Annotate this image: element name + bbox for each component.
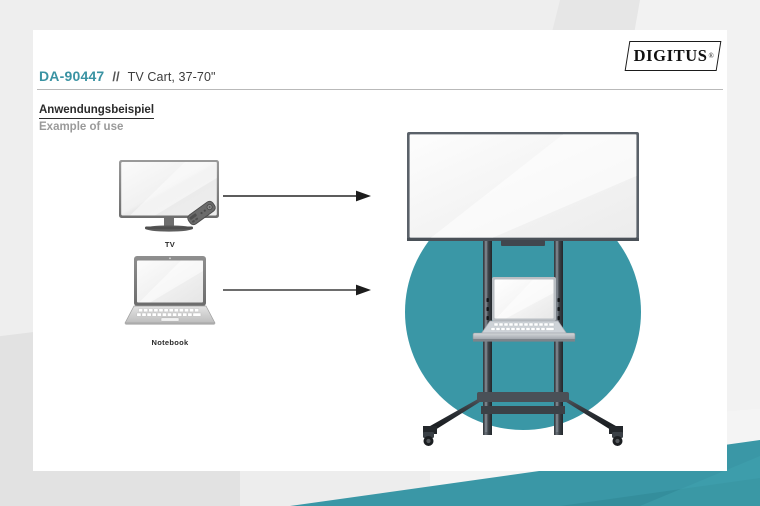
tv-cart-illustration [373,130,673,450]
source-item-tv: TV [115,158,225,250]
section-heading-en: Example of use [39,121,123,134]
remote-control-icon [185,200,221,230]
content-card: DIGITUS® DA-90447 // TV Cart, 37-70" Anw… [33,30,727,471]
logo-text: DIGITUS® [627,41,719,71]
section-heading-de: Anwendungsbeispiel [39,104,154,119]
product-title-row: DA-90447 // TV Cart, 37-70" [39,68,216,84]
arrow-notebook-to-cart [223,282,373,298]
product-sku: DA-90447 [39,68,104,84]
product-name: TV Cart, 37-70" [128,70,216,84]
caster-wheels [423,432,623,446]
notebook-on-shelf [481,277,567,334]
source-label-notebook: Notebook [115,338,225,347]
arrow-tv-to-cart [223,188,373,204]
source-label-tv: TV [115,240,225,249]
registered-trademark-icon: ® [708,52,714,60]
title-separator: // [112,69,119,84]
logo-wordmark: DIGITUS [634,46,708,66]
digitus-logo: DIGITUS® [627,41,719,71]
page-root: DIGITUS® DA-90447 // TV Cart, 37-70" Anw… [0,0,760,506]
notebook-icon [115,254,225,332]
header-divider [37,89,723,90]
source-item-notebook: Notebook [115,254,225,348]
